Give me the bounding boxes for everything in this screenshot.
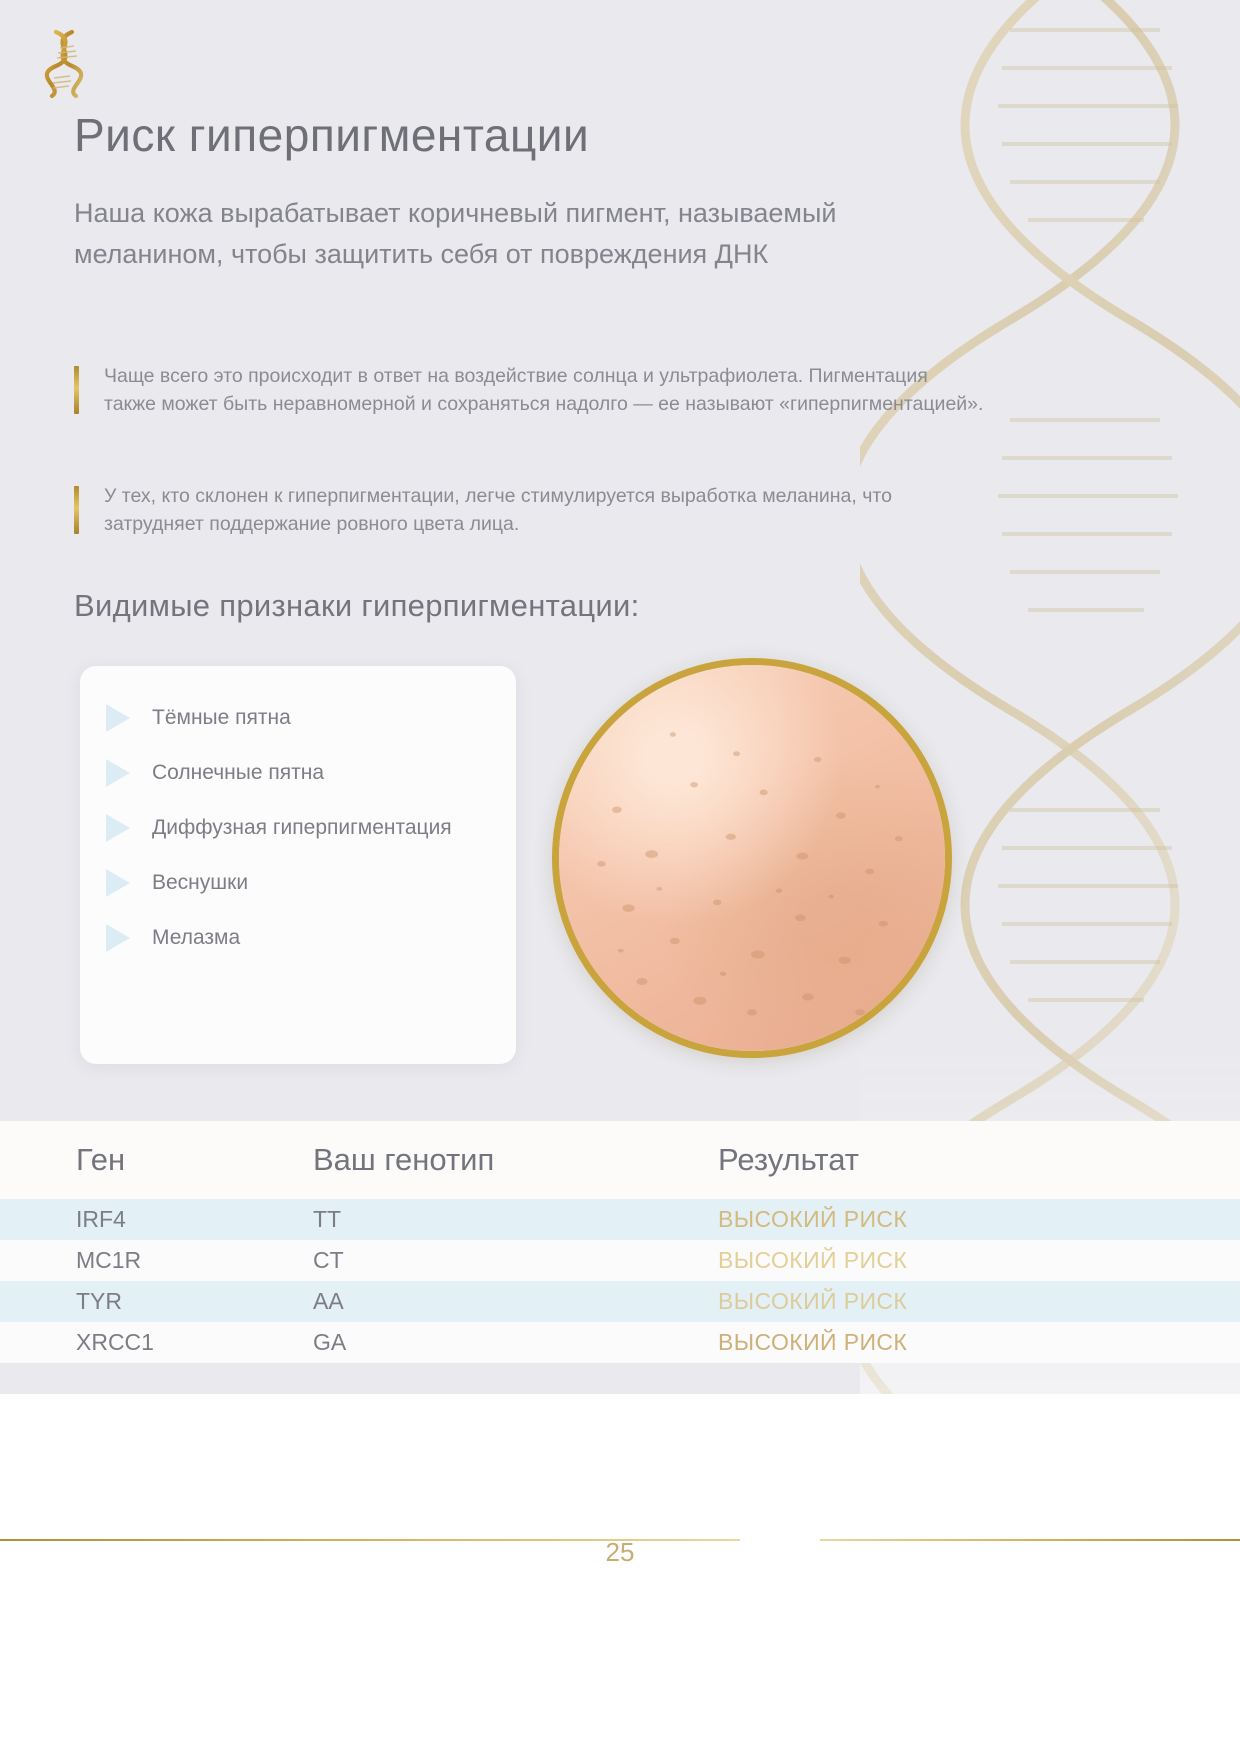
triangle-right-icon (106, 759, 130, 787)
list-item-label: Солнечные пятна (152, 757, 324, 788)
table-header-row: Ген Ваш генотип Результат (0, 1121, 1240, 1199)
cell-genotype: GA (313, 1329, 718, 1356)
triangle-right-icon (106, 869, 130, 897)
cell-gene: TYR (0, 1288, 313, 1315)
cell-genotype: TT (313, 1206, 718, 1233)
cell-gene: XRCC1 (0, 1329, 313, 1356)
cell-genotype: CT (313, 1247, 718, 1274)
list-item: Мелазма (106, 922, 490, 953)
list-item-label: Мелазма (152, 922, 240, 953)
triangle-right-icon (106, 704, 130, 732)
column-header-gene: Ген (0, 1142, 313, 1178)
page-bottom-band (0, 1394, 1240, 1754)
table-row: MC1R CT ВЫСОКИЙ РИСК (0, 1240, 1240, 1281)
list-item-label: Тёмные пятна (152, 702, 291, 733)
list-item: Диффузная гиперпигментация (106, 812, 490, 843)
column-header-genotype: Ваш генотип (313, 1142, 718, 1178)
table-row: XRCC1 GA ВЫСОКИЙ РИСК (0, 1322, 1240, 1363)
triangle-right-icon (106, 924, 130, 952)
cell-result: ВЫСОКИЙ РИСК (718, 1329, 1240, 1356)
signs-card: Тёмные пятна Солнечные пятна Диффузная г… (80, 666, 516, 1064)
quote-block-1: Чаще всего это происходит в ответ на воз… (74, 362, 984, 418)
cell-gene: MC1R (0, 1247, 313, 1274)
list-item: Веснушки (106, 867, 490, 898)
cell-result: ВЫСОКИЙ РИСК (718, 1247, 1240, 1274)
quote-block-2: У тех, кто склонен к гиперпигментации, л… (74, 482, 954, 538)
cell-result: ВЫСОКИЙ РИСК (718, 1206, 1240, 1233)
column-header-result: Результат (718, 1142, 1240, 1178)
list-item: Солнечные пятна (106, 757, 490, 788)
page-number: 25 (0, 1537, 1240, 1568)
list-item: Тёмные пятна (106, 702, 490, 733)
table-row: TYR AA ВЫСОКИЙ РИСК (0, 1281, 1240, 1322)
table-row: IRF4 TT ВЫСОКИЙ РИСК (0, 1199, 1240, 1240)
list-item-label: Диффузная гиперпигментация (152, 812, 452, 843)
cell-genotype: AA (313, 1288, 718, 1315)
triangle-right-icon (106, 814, 130, 842)
signs-heading: Видимые признаки гиперпигментации: (74, 588, 640, 624)
intro-paragraph: Наша кожа вырабатывает коричневый пигмен… (74, 193, 974, 275)
page-title: Риск гиперпигментации (74, 108, 589, 162)
cell-result: ВЫСОКИЙ РИСК (718, 1288, 1240, 1315)
freckle-texture (559, 665, 945, 1051)
cell-gene: IRF4 (0, 1206, 313, 1233)
list-item-label: Веснушки (152, 867, 248, 898)
genotype-table: Ген Ваш генотип Результат IRF4 TT ВЫСОКИ… (0, 1121, 1240, 1363)
skin-photo (552, 658, 952, 1058)
dna-helix-icon (34, 22, 94, 102)
